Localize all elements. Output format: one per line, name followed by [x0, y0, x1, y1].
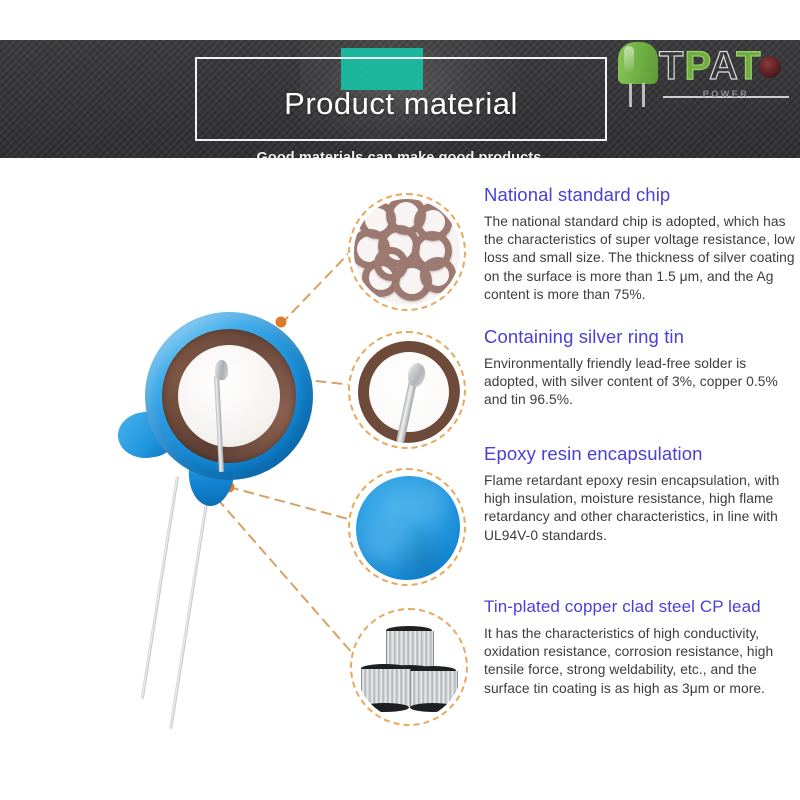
product-inner-lead-tip — [215, 360, 228, 380]
callout-1-image — [354, 199, 460, 305]
product-material-infographic: Product material Good materials can make… — [0, 0, 800, 800]
brand-letter-a: A — [709, 44, 736, 88]
product-lead-wire-2 — [141, 476, 179, 700]
callout-4-image — [356, 614, 462, 720]
product-lead-wire-1 — [169, 496, 209, 730]
feature-body: The national standard chip is adopted, w… — [484, 213, 796, 304]
feature-title: Containing silver ring tin — [484, 326, 796, 348]
spool-wire-body — [361, 669, 411, 707]
header-banner: Product material Good materials can make… — [0, 40, 800, 158]
wire-spool — [361, 664, 409, 712]
callout-3-image — [354, 474, 460, 580]
brand-logo: TPAT POWER — [613, 40, 793, 124]
feature-body: Environmentally friendly lead-free solde… — [484, 355, 796, 410]
feature-body: Flame retardant epoxy resin encapsulatio… — [484, 472, 796, 545]
main-product-photo — [110, 300, 340, 740]
page-title: Product material — [195, 86, 607, 122]
feature-block-cp-lead: Tin-plated copper clad steel CP lead It … — [484, 596, 796, 698]
spool-bottom-flange — [361, 703, 409, 712]
callout-cp-lead-wire[interactable] — [350, 608, 468, 726]
chip-disc — [374, 247, 408, 281]
callout-silver-ring-tin[interactable] — [348, 331, 466, 449]
feature-body: It has the characteristics of high condu… — [484, 625, 796, 698]
epoxy-surface-texture — [356, 476, 460, 580]
led-gloss-highlight — [624, 46, 634, 72]
spool-wire-body — [410, 671, 458, 707]
epoxy-disc-art — [356, 476, 460, 580]
page-subtitle: Good materials can make good products. — [195, 150, 607, 158]
product-chip-face — [178, 345, 280, 447]
brand-letter-p: P — [684, 44, 709, 88]
feature-block-epoxy-resin: Epoxy resin encapsulation Flame retardan… — [484, 443, 796, 545]
logo-tagline: POWER — [663, 89, 789, 99]
callout-2-image — [354, 337, 460, 443]
feature-title: Epoxy resin encapsulation — [484, 443, 796, 465]
wire-spool — [410, 666, 456, 712]
chip-stack-art — [354, 199, 460, 305]
feature-title: National standard chip — [484, 184, 796, 206]
callout-national-standard-chip[interactable] — [348, 193, 466, 311]
led-body-shape — [618, 42, 658, 84]
led-component-icon — [618, 42, 658, 92]
chip-disc — [420, 257, 456, 293]
feature-block-silver-ring-tin: Containing silver ring tin Environmental… — [484, 326, 796, 410]
feature-block-national-standard-chip: National standard chip The national stan… — [484, 184, 796, 304]
spool-bottom-flange — [410, 703, 456, 712]
led-lead-left — [629, 83, 632, 107]
brand-letter-t1: T — [659, 44, 684, 88]
logo-accent-dot-icon — [759, 56, 781, 78]
callout-epoxy-resin[interactable] — [348, 468, 466, 586]
feature-title: Tin-plated copper clad steel CP lead — [484, 596, 796, 618]
brand-wordmark: TPAT — [659, 44, 762, 88]
led-lead-right — [642, 83, 645, 107]
brand-letter-t2: T — [736, 44, 761, 88]
